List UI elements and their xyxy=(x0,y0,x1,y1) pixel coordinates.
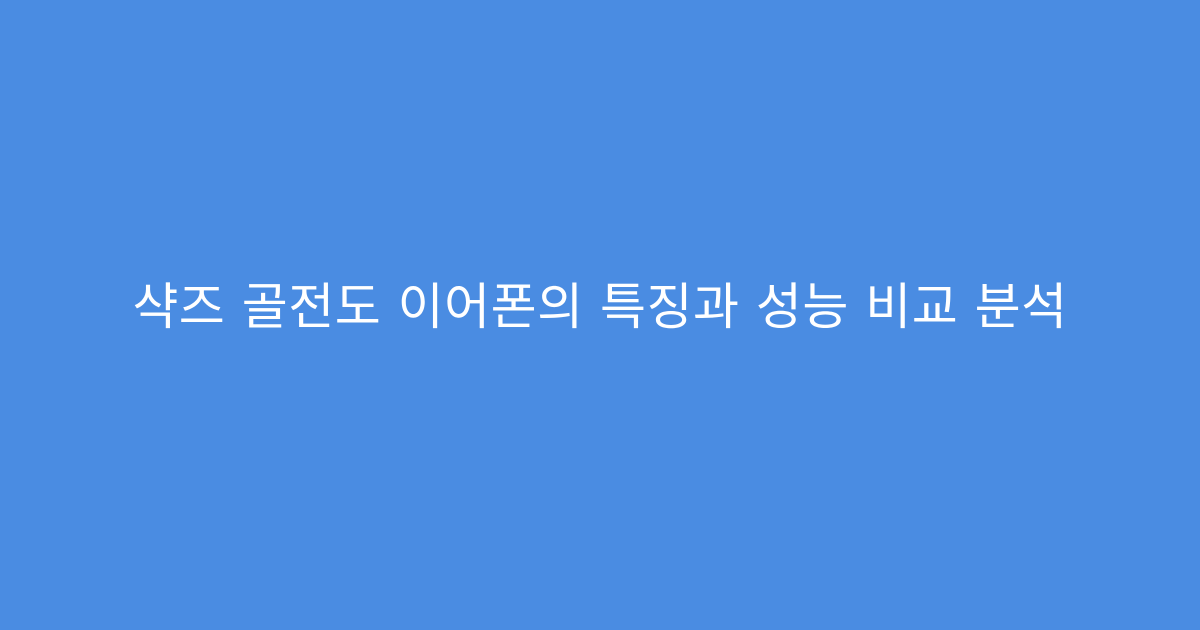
page-title: 샥즈 골전도 이어폰의 특징과 성능 비교 분석 xyxy=(132,276,1067,339)
og-image-card: 샥즈 골전도 이어폰의 특징과 성능 비교 분석 xyxy=(0,0,1200,630)
title-container: 샥즈 골전도 이어폰의 특징과 성능 비교 분석 xyxy=(100,276,1100,339)
